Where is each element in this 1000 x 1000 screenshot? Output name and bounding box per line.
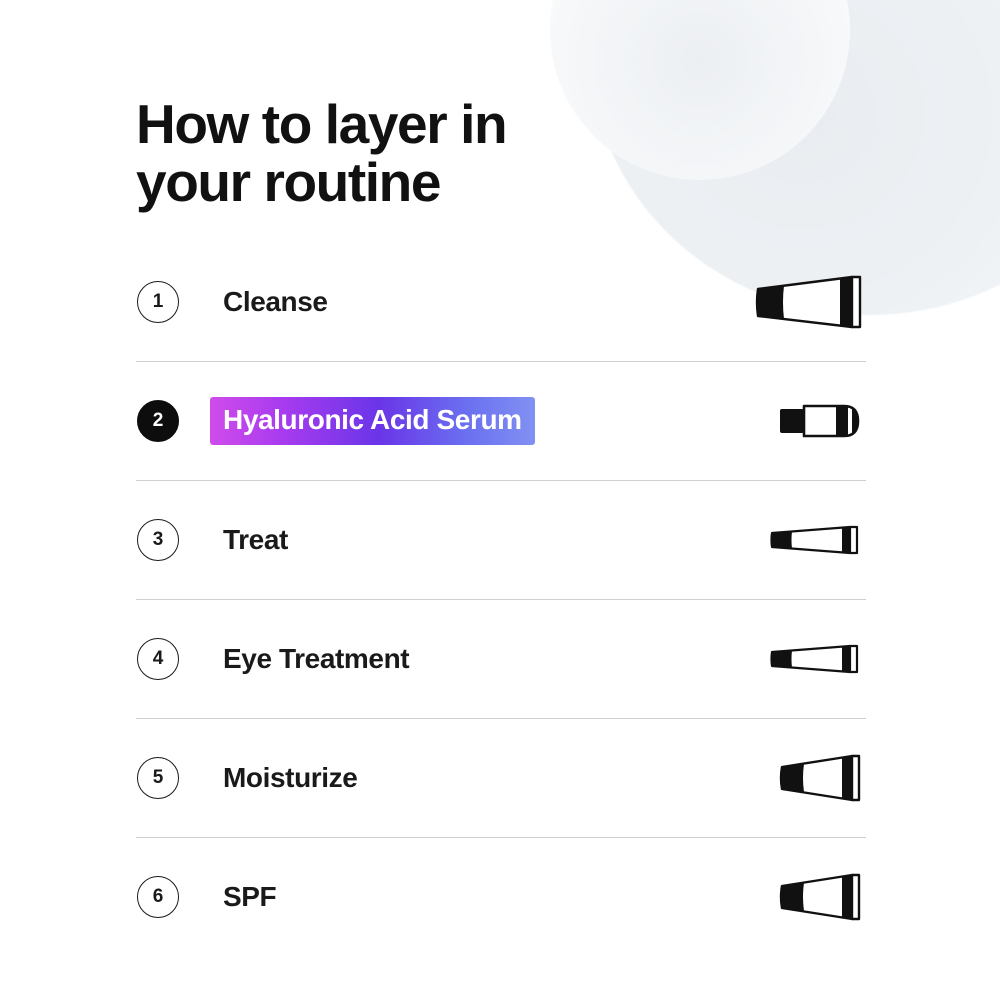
step-label: Moisturize <box>223 762 357 794</box>
step-label: Treat <box>223 524 288 556</box>
routine-step-list: 1 Cleanse 2 Hyaluronic Acid Serum <box>136 243 866 956</box>
step-number-badge: 3 <box>137 519 179 561</box>
routine-step-hyaluronic-acid-serum[interactable]: 2 Hyaluronic Acid Serum <box>136 362 866 481</box>
treatment-tube-icon <box>736 505 866 575</box>
step-label: Cleanse <box>223 286 328 318</box>
step-number-badge: 2 <box>137 400 179 442</box>
step-number-badge: 1 <box>137 281 179 323</box>
routine-step-spf[interactable]: 6 SPF <box>136 838 866 956</box>
routine-step-eye-treatment[interactable]: 4 Eye Treatment <box>136 600 866 719</box>
routine-step-cleanse[interactable]: 1 Cleanse <box>136 243 866 362</box>
step-number-badge: 4 <box>137 638 179 680</box>
moisturizer-tube-icon <box>736 743 866 813</box>
step-label: Eye Treatment <box>223 643 409 675</box>
serum-bottle-icon <box>736 386 866 456</box>
step-label: Hyaluronic Acid Serum <box>210 397 535 445</box>
spf-tube-icon <box>736 862 866 932</box>
step-number-badge: 6 <box>137 876 179 918</box>
eye-cream-tube-icon <box>736 624 866 694</box>
step-number-badge: 5 <box>137 757 179 799</box>
routine-step-treat[interactable]: 3 Treat <box>136 481 866 600</box>
routine-card: How to layer in your routine 1 Cleanse 2… <box>0 0 1000 1000</box>
step-label: SPF <box>223 881 276 913</box>
page-title: How to layer in your routine <box>136 95 696 211</box>
routine-step-moisturize[interactable]: 5 Moisturize <box>136 719 866 838</box>
cleanser-tube-icon <box>736 267 866 337</box>
